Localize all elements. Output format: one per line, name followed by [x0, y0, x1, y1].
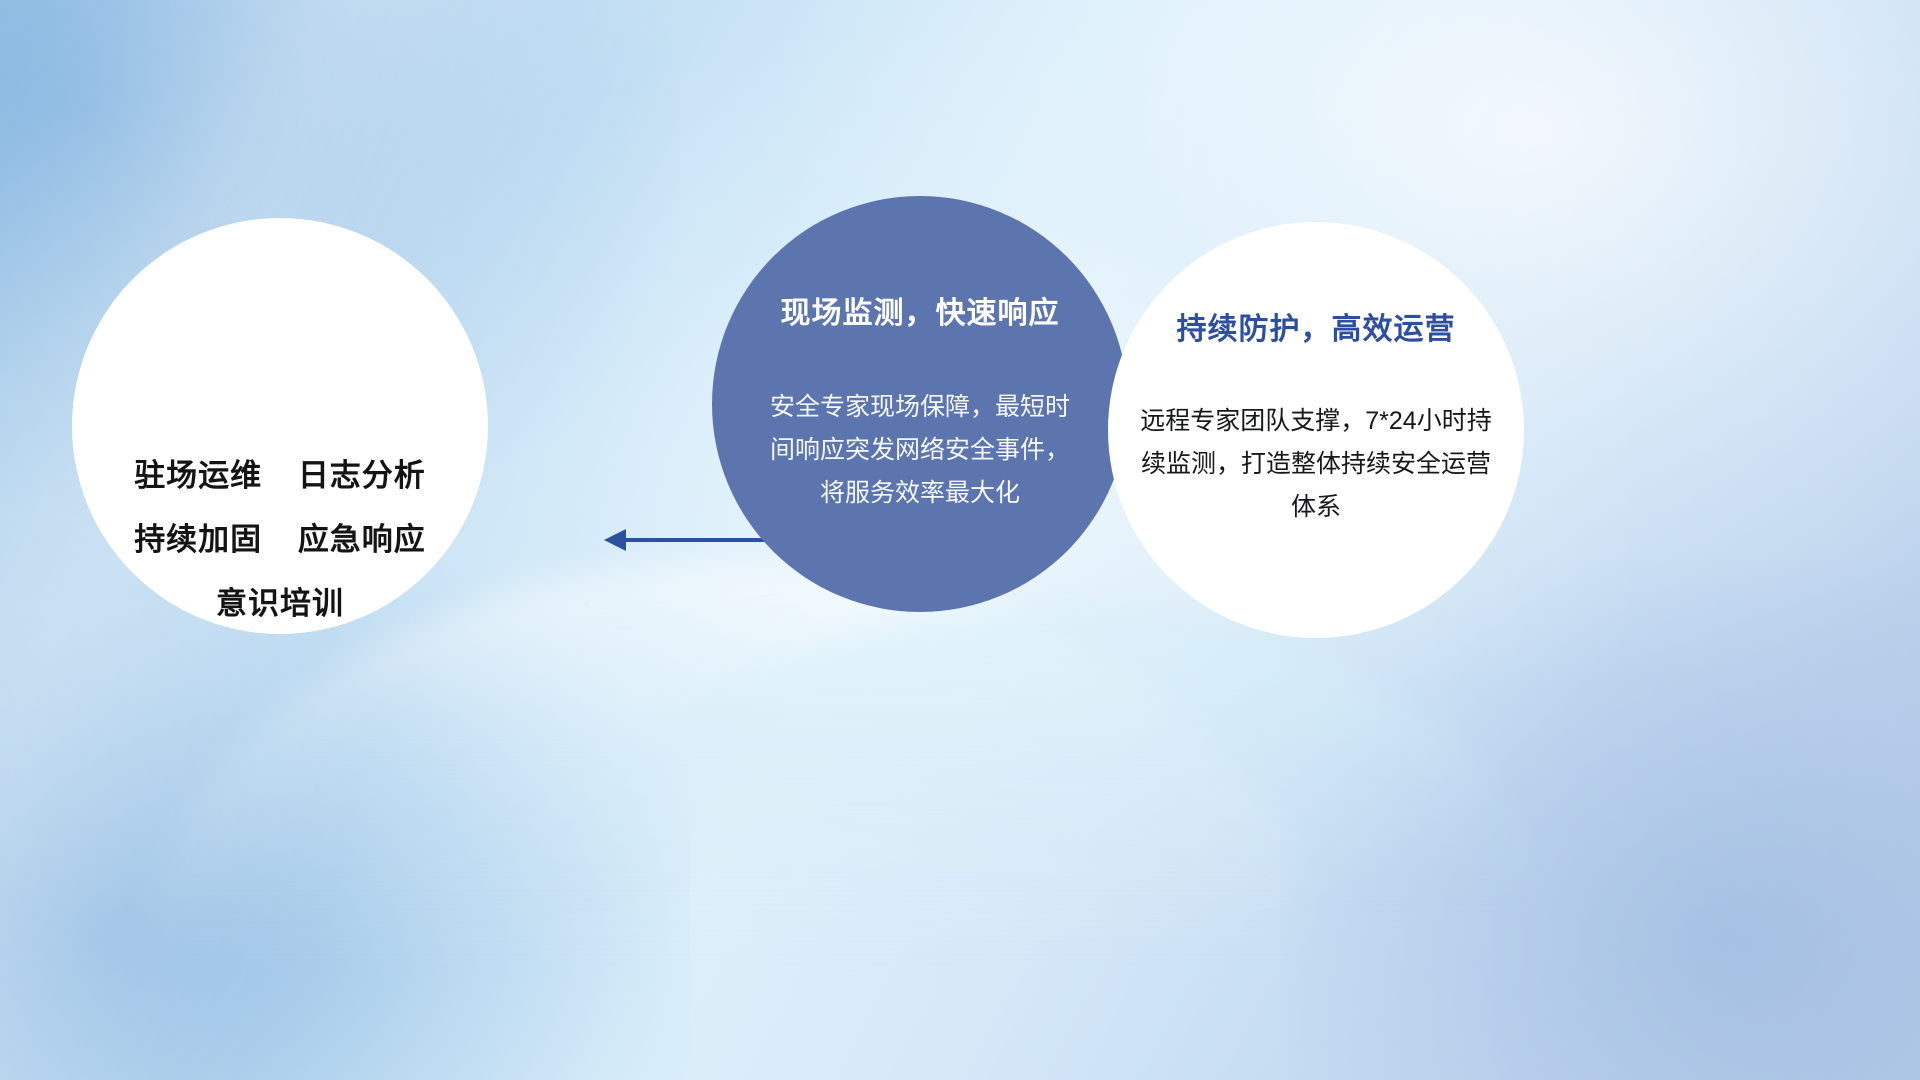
arrow-head — [604, 529, 626, 551]
middle-circle-body: 安全专家现场保障，最短时间响应突发网络安全事件，将服务效率最大化 — [770, 386, 1070, 515]
capability-item: 持续加固 — [134, 522, 262, 557]
capability-circle-right[interactable]: 持续防护，高效运营 远程专家团队支撑，7*24小时持续监测，打造整体持续安全运营… — [1108, 222, 1524, 638]
capability-row: 意识培训 — [134, 572, 426, 636]
capability-list: 驻场运维 日志分析 持续加固 应急响应 意识培训 — [134, 444, 426, 636]
capability-item: 日志分析 — [298, 458, 426, 493]
slide-canvas: 驻场运维 日志分析 持续加固 应急响应 意识培训 现场监测，快速响应 安全专家现… — [0, 0, 1920, 1080]
capability-item: 驻场运维 — [134, 458, 262, 493]
middle-circle-title: 现场监测，快速响应 — [781, 288, 1060, 332]
capability-item: 应急响应 — [298, 522, 426, 557]
capability-row: 驻场运维 日志分析 — [134, 444, 426, 508]
right-circle-body: 远程专家团队支撑，7*24小时持续监测，打造整体持续安全运营体系 — [1140, 400, 1492, 529]
capability-circle-left[interactable]: 驻场运维 日志分析 持续加固 应急响应 意识培训 — [72, 218, 488, 634]
capability-circle-middle[interactable]: 现场监测，快速响应 安全专家现场保障，最短时间响应突发网络安全事件，将服务效率最… — [712, 196, 1128, 612]
capability-item: 意识培训 — [216, 586, 344, 621]
right-circle-title: 持续防护，高效运营 — [1177, 304, 1456, 348]
capability-row: 持续加固 应急响应 — [134, 508, 426, 572]
